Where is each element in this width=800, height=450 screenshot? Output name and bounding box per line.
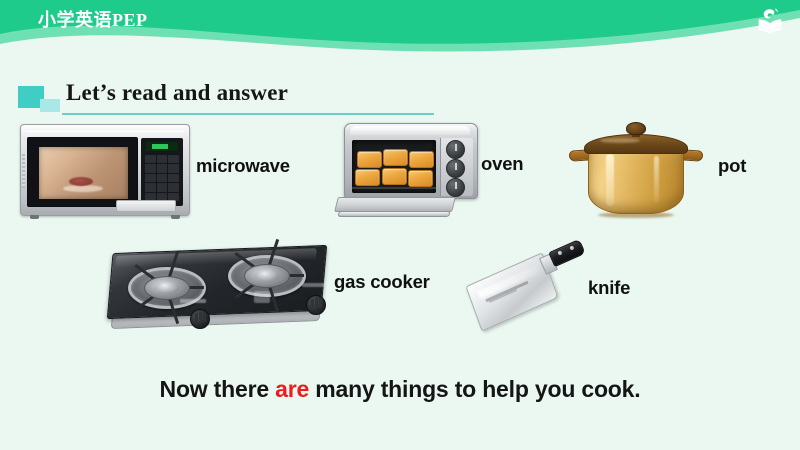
microwave-turntable	[63, 185, 103, 192]
gas-cooker-photo	[104, 243, 332, 335]
microwave-side-vent	[22, 154, 25, 188]
burner-cap	[155, 281, 179, 294]
glass-pot-photo	[566, 110, 706, 220]
oven-knob	[446, 178, 465, 197]
pot-lid	[584, 134, 688, 154]
microwave-foot	[30, 215, 39, 219]
teal-square-decor-small	[40, 99, 60, 112]
vocab-label-oven: oven	[481, 153, 523, 175]
oven-bread-slice	[409, 151, 434, 168]
oven-door-handle	[337, 211, 450, 217]
microwave-window	[39, 147, 128, 199]
microwave-door-handle	[116, 200, 176, 212]
oven-knob	[446, 140, 465, 159]
oven-bread-slice	[357, 151, 382, 168]
page-title-block: Let’s read and answer	[18, 82, 438, 116]
vocab-label-gas-cooker: gas cooker	[334, 271, 430, 293]
microwave-top-seam	[26, 131, 184, 132]
cooker-brand-mark	[302, 283, 326, 287]
microwave-food	[69, 177, 93, 186]
vocab-label-knife: knife	[588, 277, 630, 299]
cooker-control-knob	[306, 295, 326, 315]
sentence-part-before: Now there	[160, 376, 276, 402]
pot-highlight	[606, 154, 614, 206]
pot-lid-knob	[626, 122, 646, 135]
cleaver-knife-photo	[466, 244, 586, 340]
cooker-center-badge	[254, 291, 270, 303]
oven-open-door	[334, 197, 456, 212]
oven-rack	[352, 187, 436, 189]
open-book-sprout-icon	[754, 6, 786, 36]
vocab-label-microwave: microwave	[196, 155, 290, 177]
pot-highlight	[654, 156, 659, 202]
microwave-foot	[171, 215, 180, 219]
toaster-oven-photo	[336, 113, 486, 221]
sentence-highlight-word: are	[275, 376, 309, 402]
pot-base-shadow	[598, 212, 674, 218]
page-title: Let’s read and answer	[66, 80, 288, 106]
cooker-brand-mark	[180, 299, 206, 303]
pot-body	[588, 148, 684, 214]
oven-bread-slice	[355, 169, 380, 186]
cooker-control-knob	[190, 309, 210, 329]
vocab-label-pot: pot	[718, 155, 746, 177]
oven-bread-slice	[383, 149, 408, 166]
knife-handle	[548, 239, 586, 267]
sentence-part-after: many things to help you cook.	[309, 376, 640, 402]
oven-bread-slice	[382, 168, 407, 185]
microwave-oven-photo	[20, 124, 190, 216]
oven-cavity	[352, 140, 436, 193]
oven-bread-slice	[408, 170, 433, 187]
microwave-door	[27, 137, 138, 207]
slide-canvas: 小学英语PEP Let’s read and answer	[0, 0, 800, 450]
oven-top-highlight	[350, 126, 470, 135]
header-title: 小学英语PEP	[38, 6, 148, 32]
microwave-keypad	[145, 155, 179, 201]
oven-knob	[446, 159, 465, 178]
burner-cap	[255, 269, 279, 282]
microwave-display	[146, 142, 178, 151]
pot-lid-highlight	[600, 138, 640, 143]
summary-sentence: Now there are many things to help you co…	[0, 376, 800, 403]
